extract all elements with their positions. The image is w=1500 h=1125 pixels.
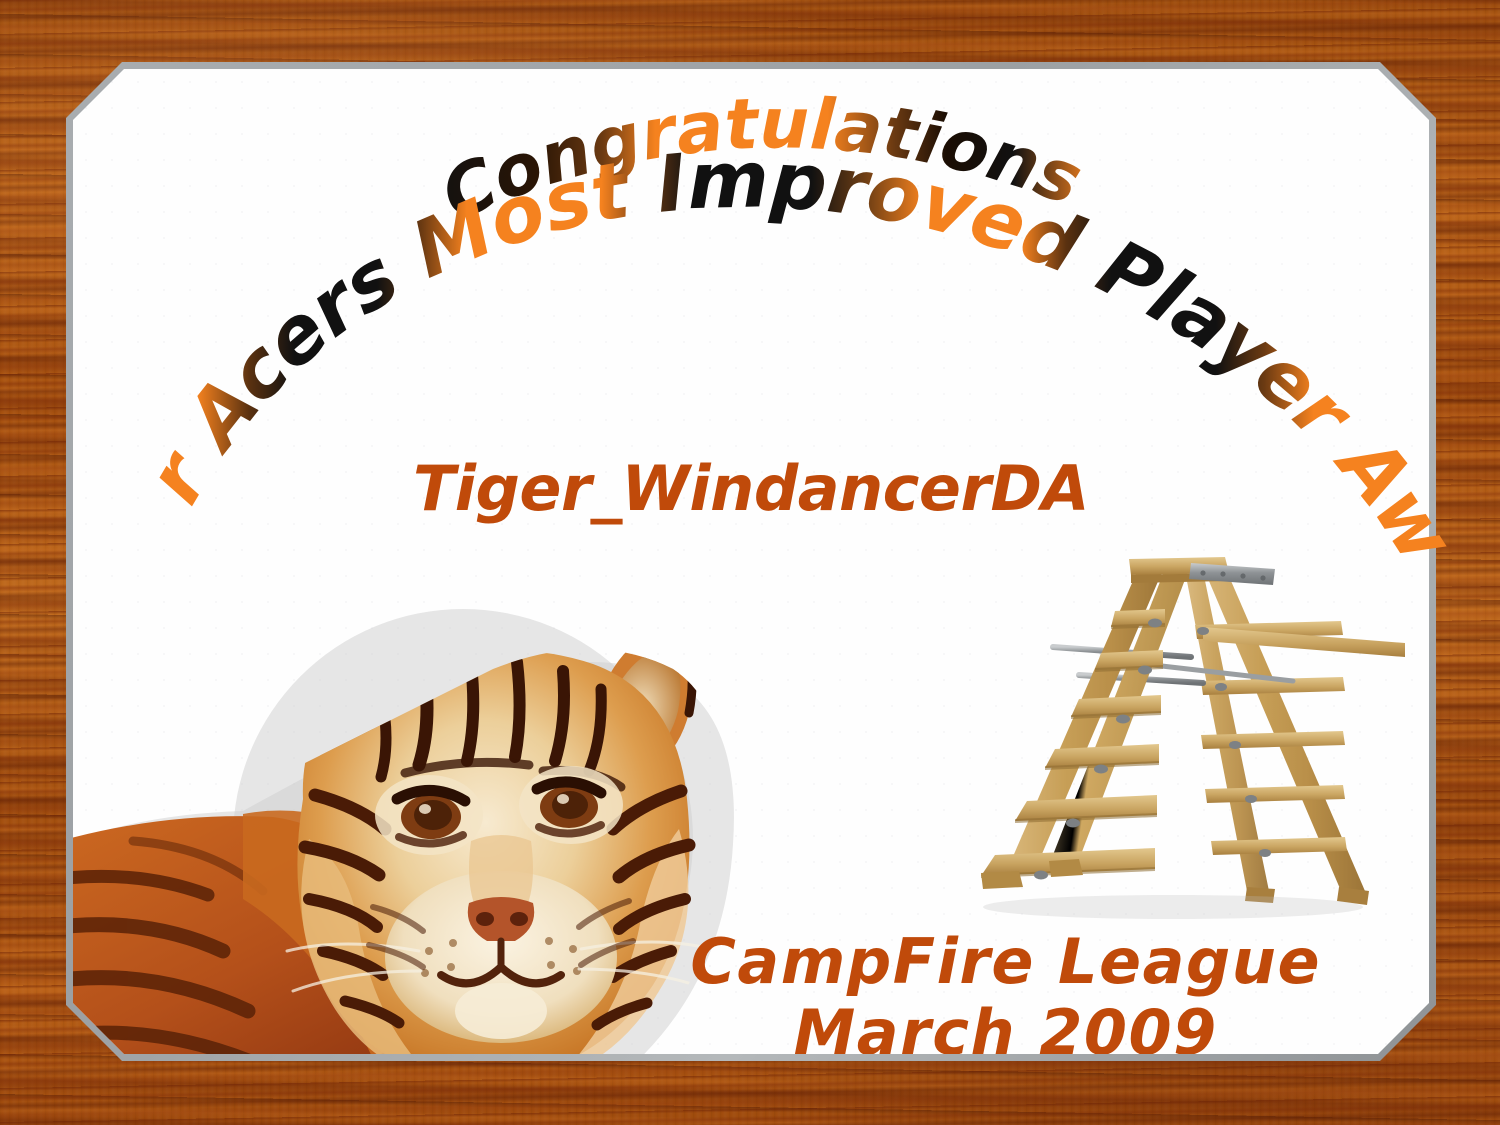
footer-block: CampFire League March 2009 (690, 929, 1321, 1054)
tiger-head-image (73, 499, 773, 1054)
league-name: CampFire League (690, 929, 1321, 996)
player-name: Tiger_WindancerDA (73, 452, 1429, 525)
stepladder-image (873, 539, 1413, 929)
league-date: March 2009 (690, 1000, 1321, 1054)
certificate-panel: Tiger_WindancerDA CampFire League March … (73, 69, 1429, 1054)
award-certificate: Tiger_WindancerDA CampFire League March … (0, 0, 1500, 1125)
